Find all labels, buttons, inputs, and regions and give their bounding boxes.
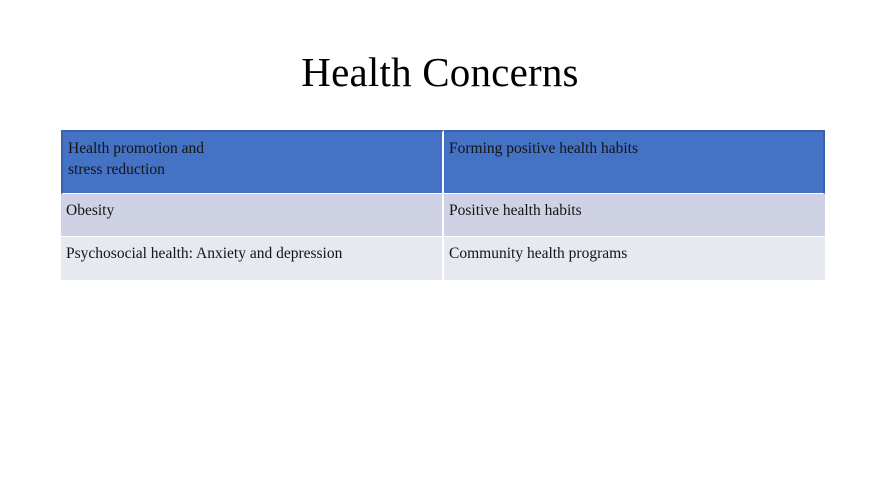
- table-cell-right[interactable]: Community health programs: [444, 237, 825, 280]
- table-row: Psychosocial health: Anxiety and depress…: [61, 237, 825, 280]
- table-cell-text: Forming positive health habits: [449, 138, 815, 159]
- slide-canvas: Health Concerns Health promotion and str…: [0, 0, 880, 495]
- health-concerns-table: Health promotion and stress reduction Fo…: [61, 130, 825, 280]
- table-cell-text: Health promotion and stress reduction: [68, 138, 434, 180]
- table-row-header: Health promotion and stress reduction Fo…: [61, 130, 825, 194]
- table-cell-right[interactable]: Positive health habits: [444, 194, 825, 237]
- table-cell-header-left[interactable]: Health promotion and stress reduction: [61, 130, 444, 194]
- table-cell-left[interactable]: Obesity: [61, 194, 444, 237]
- table-row: Obesity Positive health habits: [61, 194, 825, 237]
- table-cell-text: Community health programs: [449, 243, 817, 264]
- table-cell-text: Psychosocial health: Anxiety and depress…: [66, 243, 434, 264]
- table-cell-text: Obesity: [66, 200, 434, 221]
- table-cell-text: Positive health habits: [449, 200, 817, 221]
- table-cell-left[interactable]: Psychosocial health: Anxiety and depress…: [61, 237, 444, 280]
- table-cell-header-right[interactable]: Forming positive health habits: [444, 130, 825, 194]
- page-title: Health Concerns: [0, 46, 880, 98]
